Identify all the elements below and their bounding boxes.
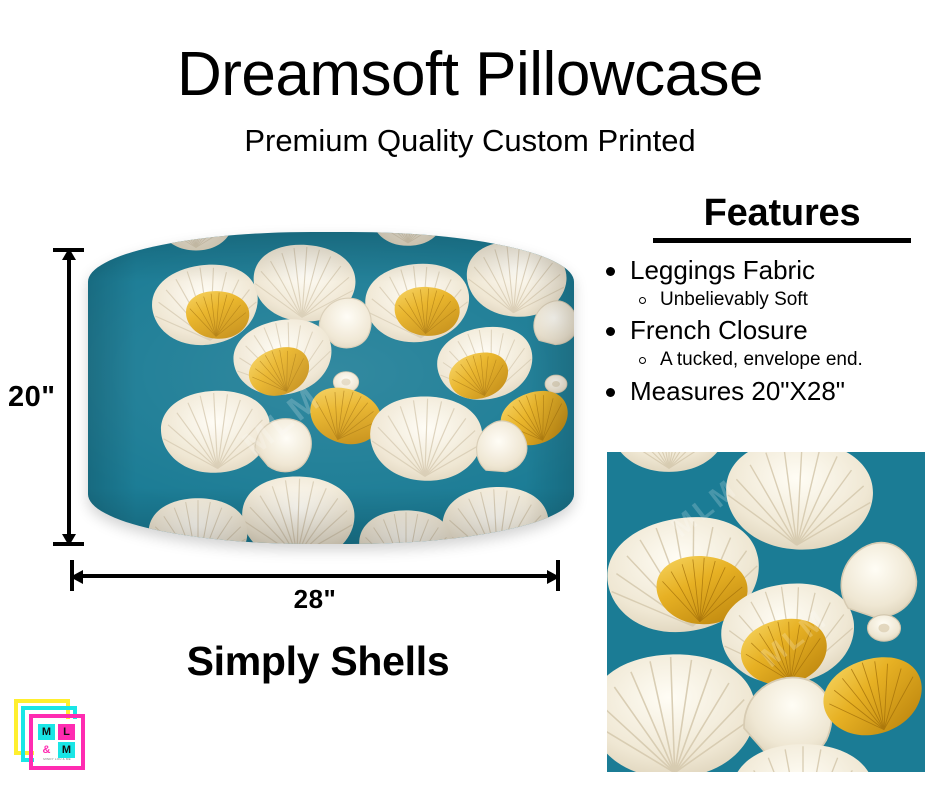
feature-sub-label: Unbelievably Soft [660,289,808,310]
page-title: Dreamsoft Pillowcase [0,42,940,107]
width-dimension-arrow [70,568,560,584]
feature-item: Measures 20"X28" [596,376,940,408]
feature-label: French Closure [630,315,808,345]
swatch-shell-illustration [607,452,925,772]
feature-label: Measures 20"X28" [630,376,845,406]
bullet-dot-icon [606,267,615,276]
features-list: Leggings Fabric Unbelievably Soft French… [596,255,940,408]
feature-sub-item: A tucked, envelope end. [630,348,940,373]
pillow-body: MLM [88,232,574,544]
shell-pattern-illustration [88,232,574,544]
pillow-mockup: MLM [88,232,574,544]
width-dimension-label: 28" [70,584,560,615]
product-info-graphic: Dreamsoft Pillowcase Premium Quality Cus… [0,0,940,788]
bullet-dot-icon [606,327,615,336]
logo-letter-top-right: L [58,724,75,740]
brand-logo[interactable]: M L & M MINDY LOU & ME [14,699,92,777]
bullet-ring-icon [639,297,646,304]
features-heading: Features [653,192,911,243]
page-subtitle: Premium Quality Custom Printed [0,124,940,158]
feature-item: French Closure A tucked, envelope end. [596,315,940,373]
fabric-swatch-photo: MLM MLM [607,452,925,772]
logo-letter-top-left: M [38,724,55,740]
logo-letter-bottom-left: & [38,742,55,758]
feature-sublist: A tucked, envelope end. [630,348,940,373]
features-panel: Features Leggings Fabric Unbelievably So… [596,192,940,409]
logo-letter-bottom-right: M [58,742,75,758]
design-name: Simply Shells [40,638,596,685]
feature-sub-label: A tucked, envelope end. [660,349,863,370]
feature-sublist: Unbelievably Soft [630,288,940,313]
height-dimension-label: 20" [8,381,56,414]
feature-sub-item: Unbelievably Soft [630,288,940,313]
feature-label: Leggings Fabric [630,255,815,285]
bullet-ring-icon [639,357,646,364]
height-dimension-arrow [62,248,75,546]
feature-item: Leggings Fabric Unbelievably Soft [596,255,940,313]
bullet-dot-icon [606,388,615,397]
logo-plate: M L & M MINDY LOU & ME [34,719,80,765]
logo-tagline: MINDY LOU & ME [38,757,76,761]
